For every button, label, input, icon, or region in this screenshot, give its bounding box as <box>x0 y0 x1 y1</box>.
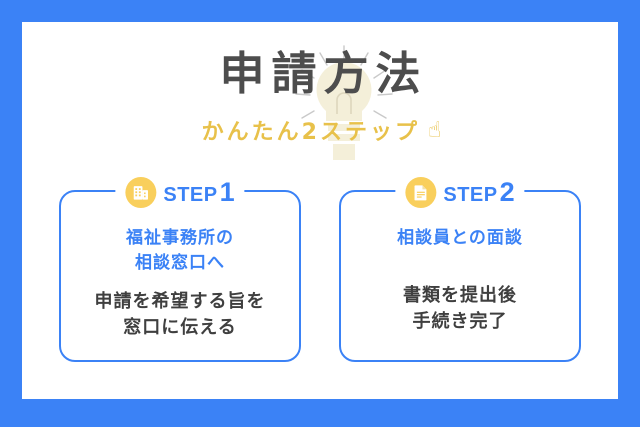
step-text-line: 書類を提出後 <box>341 283 579 309</box>
infographic-canvas: 申請方法 かんたん2ステップ ☝ <box>22 22 618 399</box>
step-heading-1: 福祉事務所の 相談窓口へ <box>61 226 299 275</box>
step-body-1: 福祉事務所の 相談窓口へ 申請を希望する旨を 窓口に伝える <box>61 192 299 341</box>
step-word-1: STEP <box>163 184 217 207</box>
blue-frame: 申請方法 かんたん2ステップ ☝ <box>0 0 640 427</box>
step-label-1: STEP 1 <box>163 177 234 208</box>
step-word-2: STEP <box>443 184 497 207</box>
page-title: 申請方法 <box>22 48 618 100</box>
step-heading-line: 福祉事務所の <box>61 226 299 251</box>
steps-row: STEP 1 福祉事務所の 相談窓口へ 申請を希望する旨を 窓口に伝える <box>22 190 618 362</box>
step-card-1[interactable]: STEP 1 福祉事務所の 相談窓口へ 申請を希望する旨を 窓口に伝える <box>59 190 301 362</box>
point-up-finger-icon: ☝ <box>428 119 441 141</box>
step-header-1: STEP 1 <box>115 175 244 209</box>
step-body-2: 相談員との面談 書類を提出後 手続き完了 <box>341 192 579 335</box>
building-icon <box>125 177 156 208</box>
step-heading-line: 相談員との面談 <box>341 226 579 251</box>
step-header-2: STEP 2 <box>395 175 524 209</box>
subtitle-row: かんたん2ステップ ☝ <box>22 114 618 146</box>
step-label-2: STEP 2 <box>443 177 514 208</box>
step-text-line: 申請を希望する旨を <box>61 289 299 315</box>
step-heading-line: 相談窓口へ <box>61 251 299 276</box>
step-text-1: 申請を希望する旨を 窓口に伝える <box>61 289 299 341</box>
subtitle: かんたん2ステップ <box>199 114 420 146</box>
step-number-2: 2 <box>500 177 515 208</box>
step-card-2[interactable]: STEP 2 相談員との面談 書類を提出後 手続き完了 <box>339 190 581 362</box>
step-number-1: 1 <box>220 177 235 208</box>
title-block: 申請方法 かんたん2ステップ ☝ <box>22 48 618 146</box>
step-text-line: 窓口に伝える <box>61 315 299 341</box>
document-icon <box>405 177 436 208</box>
step-text-2: 書類を提出後 手続き完了 <box>341 283 579 335</box>
step-text-line: 手続き完了 <box>341 309 579 335</box>
step-heading-2: 相談員との面談 <box>341 226 579 251</box>
